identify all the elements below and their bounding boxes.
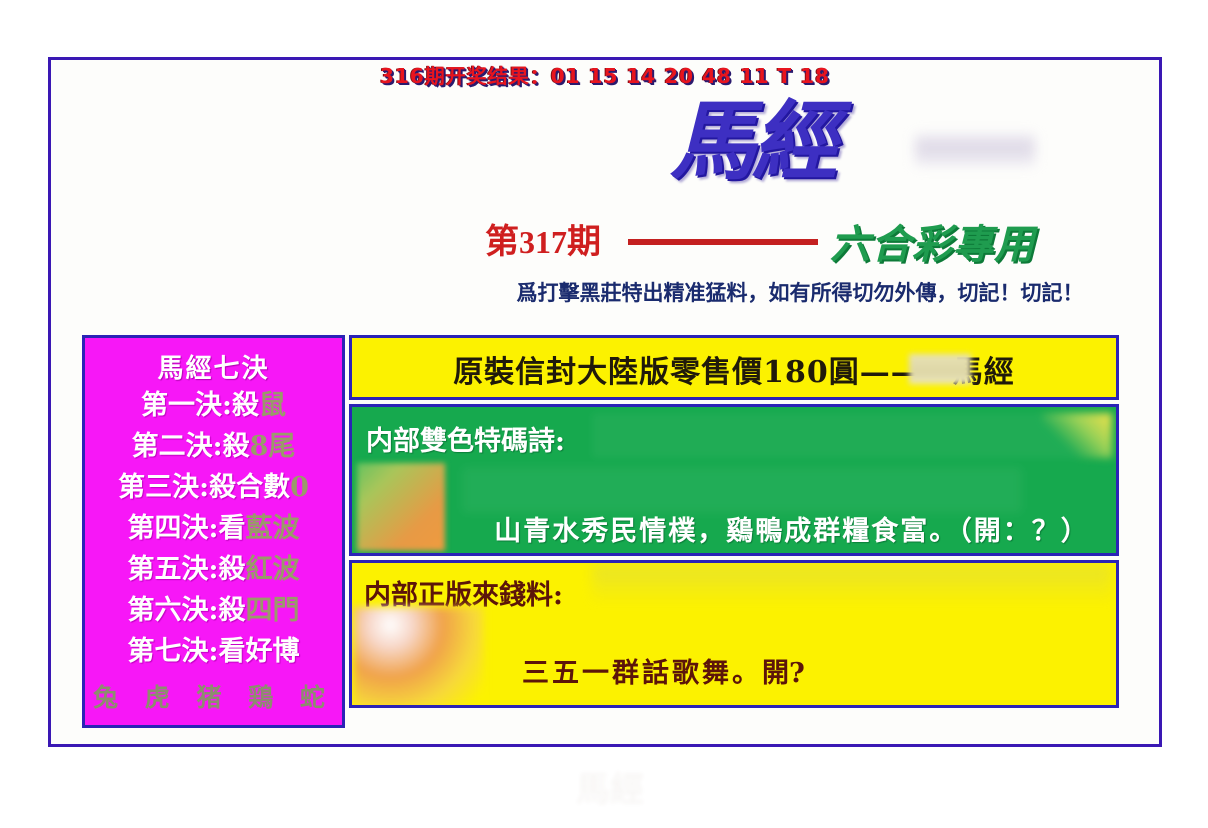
redacted-block-poem-top [592, 413, 1112, 458]
row-label: 第六決:殺 [128, 595, 246, 626]
row-label: 第三決:殺合數 [118, 472, 290, 503]
money-open-marker: 開? [762, 658, 805, 689]
seven-decisions-row: 第七決:看好博 [85, 631, 342, 672]
poem-section: 内部雙色特碼詩: 山青水秀民情樸，鷄鴨成群糧食富。（開：？） [349, 404, 1119, 556]
price-banner: 原裝信封大陸版零售價180圓—— 馬經 [349, 335, 1119, 400]
results-banner-text: 316期开奖结果：01 15 14 20 48 11 T 18 [380, 60, 830, 89]
row-label: 第二決:殺 [132, 431, 250, 462]
redacted-block-price [909, 354, 971, 384]
row-value: 紅波 [245, 554, 299, 585]
redacted-block-logo [915, 134, 1035, 166]
row-value: 四門 [245, 595, 299, 626]
money-text: 三五一群話歌舞。 [522, 658, 762, 689]
gradient-accent-poem-right [1042, 413, 1112, 458]
row-value: 8尾 [250, 431, 296, 462]
zodiac-row: 兔 虎 猪 鶏 蛇 [85, 678, 342, 714]
seven-decisions-title: 馬經七決 [85, 348, 342, 385]
masthead-slogan: 爲打擊黑莊特出精准猛料，如有所得切勿外傳，切記！切記！ [455, 277, 1145, 307]
issue-prefix: 第 [485, 222, 519, 262]
row-label: 第七決:看好博 [128, 636, 300, 667]
page-watermark: 馬經 [400, 762, 820, 812]
redacted-block-money-top [592, 565, 1112, 607]
issue-suffix: 期 [567, 222, 601, 262]
redacted-block-poem-mid [462, 467, 1022, 513]
row-label: 第四決:看 [128, 513, 246, 544]
right-column: 原裝信封大陸版零售價180圓—— 馬經 内部雙色特碼詩: 山青水秀民情樸，鷄鴨成… [349, 335, 1122, 728]
money-section: 内部正版來錢料: 三五一群話歌舞。開? [349, 560, 1119, 708]
money-text-row: 三五一群話歌舞。開? [472, 651, 1102, 690]
row-value: 0 [290, 472, 309, 503]
issue-divider-rule [628, 239, 818, 245]
seven-decisions-row: 第五決:殺紅波 [85, 549, 342, 590]
row-label: 第一決:殺 [141, 390, 259, 421]
issue-row: 第317期 六合彩專用 [450, 212, 1140, 272]
seven-decisions-row: 第三決:殺合數0 [85, 467, 342, 508]
masthead-subtitle: 六合彩專用 [830, 212, 1035, 270]
issue-number: 317 [519, 224, 567, 260]
seven-decisions-panel: 馬經七決 第一決:殺鼠 第二決:殺8尾 第三決:殺合數0 第四決:看藍波 第五決… [82, 335, 345, 728]
seven-decisions-row: 第一決:殺鼠 [85, 385, 342, 426]
results-banner: 316期开奖结果：01 15 14 20 48 11 T 18 [48, 60, 1162, 90]
seven-decisions-row: 第二決:殺8尾 [85, 426, 342, 467]
poem-section-label: 内部雙色特碼詩: [366, 419, 565, 458]
content-area: 馬經七決 第一決:殺鼠 第二決:殺8尾 第三決:殺合數0 第四決:看藍波 第五決… [82, 335, 1122, 730]
gradient-accent-poem-left [357, 463, 445, 551]
seven-decisions-row: 第六決:殺四門 [85, 590, 342, 631]
poem-text: 山青水秀民情樸，鷄鴨成群糧食富。（開：？） [472, 509, 1112, 548]
brand-logo: 馬經 [670, 92, 910, 202]
row-value: 鼠 [259, 390, 286, 421]
brand-logo-text: 馬經 [670, 92, 910, 192]
row-value: 藍波 [245, 513, 299, 544]
row-label: 第五決:殺 [128, 554, 246, 585]
seven-decisions-row: 第四決:看藍波 [85, 508, 342, 549]
masthead: 馬經 第317期 六合彩專用 爲打擊黑莊特出精准猛料，如有所得切勿外傳，切記！切… [440, 72, 1140, 322]
gradient-accent-money-left [354, 607, 484, 707]
page-root: 316期开奖结果：01 15 14 20 48 11 T 18 馬經 第317期… [0, 0, 1208, 828]
issue-label: 第317期 [485, 214, 601, 263]
